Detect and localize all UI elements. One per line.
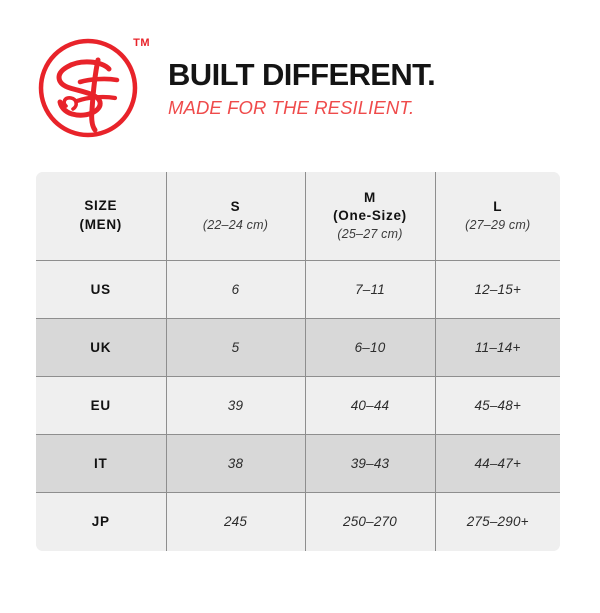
column-header-l: L (27–29 cm) xyxy=(435,172,560,261)
cell-jp-l: 275–290+ xyxy=(435,493,560,551)
cell-it-m: 39–43 xyxy=(305,435,435,493)
table-row: JP 245 250–270 275–290+ xyxy=(36,493,560,551)
sf-monogram-circle-icon xyxy=(36,36,140,140)
table-row: US 6 7–11 12–15+ xyxy=(36,261,560,319)
column-header-s-sub: (22–24 cm) xyxy=(167,217,305,234)
tagline: MADE FOR THE RESILIENT. xyxy=(168,98,435,117)
cell-eu-s: 39 xyxy=(166,377,305,435)
column-header-m-sub: (25–27 cm) xyxy=(306,226,435,243)
row-label-uk: UK xyxy=(36,319,166,377)
column-header-size: SIZE (MEN) xyxy=(36,172,166,261)
cell-uk-s: 5 xyxy=(166,319,305,377)
column-header-s: S (22–24 cm) xyxy=(166,172,305,261)
row-label-us: US xyxy=(36,261,166,319)
column-header-m: M (One-Size) (25–27 cm) xyxy=(305,172,435,261)
column-header-size-main: SIZE xyxy=(36,197,166,216)
table-row: UK 5 6–10 11–14+ xyxy=(36,319,560,377)
cell-jp-m: 250–270 xyxy=(305,493,435,551)
column-header-m-main: M xyxy=(306,189,435,208)
cell-it-l: 44–47+ xyxy=(435,435,560,493)
table-row: IT 38 39–43 44–47+ xyxy=(36,435,560,493)
size-chart-table: SIZE (MEN) S (22–24 cm) M (One-Size) (25… xyxy=(36,172,560,551)
cell-us-l: 12–15+ xyxy=(435,261,560,319)
cell-uk-m: 6–10 xyxy=(305,319,435,377)
cell-jp-s: 245 xyxy=(166,493,305,551)
cell-us-s: 6 xyxy=(166,261,305,319)
row-label-jp: JP xyxy=(36,493,166,551)
cell-eu-m: 40–44 xyxy=(305,377,435,435)
row-label-it: IT xyxy=(36,435,166,493)
brand-logo: TM xyxy=(36,36,140,140)
cell-us-m: 7–11 xyxy=(305,261,435,319)
column-header-l-sub: (27–29 cm) xyxy=(436,217,561,234)
cell-eu-l: 45–48+ xyxy=(435,377,560,435)
column-header-s-main: S xyxy=(167,198,305,217)
trademark-symbol: TM xyxy=(133,38,150,49)
column-header-l-main: L xyxy=(436,198,561,217)
size-chart-page: TM BUILT DIFFERENT. MADE FOR THE RESILIE… xyxy=(0,0,600,613)
cell-uk-l: 11–14+ xyxy=(435,319,560,377)
column-header-m-extra: (One-Size) xyxy=(306,207,435,226)
headline-block: BUILT DIFFERENT. MADE FOR THE RESILIENT. xyxy=(168,59,435,118)
headline: BUILT DIFFERENT. xyxy=(168,59,435,92)
cell-it-s: 38 xyxy=(166,435,305,493)
table-header-row: SIZE (MEN) S (22–24 cm) M (One-Size) (25… xyxy=(36,172,560,261)
table-body: US 6 7–11 12–15+ UK 5 6–10 11–14+ EU 39 … xyxy=(36,261,560,551)
row-label-eu: EU xyxy=(36,377,166,435)
table-header: SIZE (MEN) S (22–24 cm) M (One-Size) (25… xyxy=(36,172,560,261)
column-header-size-extra: (MEN) xyxy=(36,216,166,235)
brand-header: TM BUILT DIFFERENT. MADE FOR THE RESILIE… xyxy=(36,34,564,142)
table-row: EU 39 40–44 45–48+ xyxy=(36,377,560,435)
